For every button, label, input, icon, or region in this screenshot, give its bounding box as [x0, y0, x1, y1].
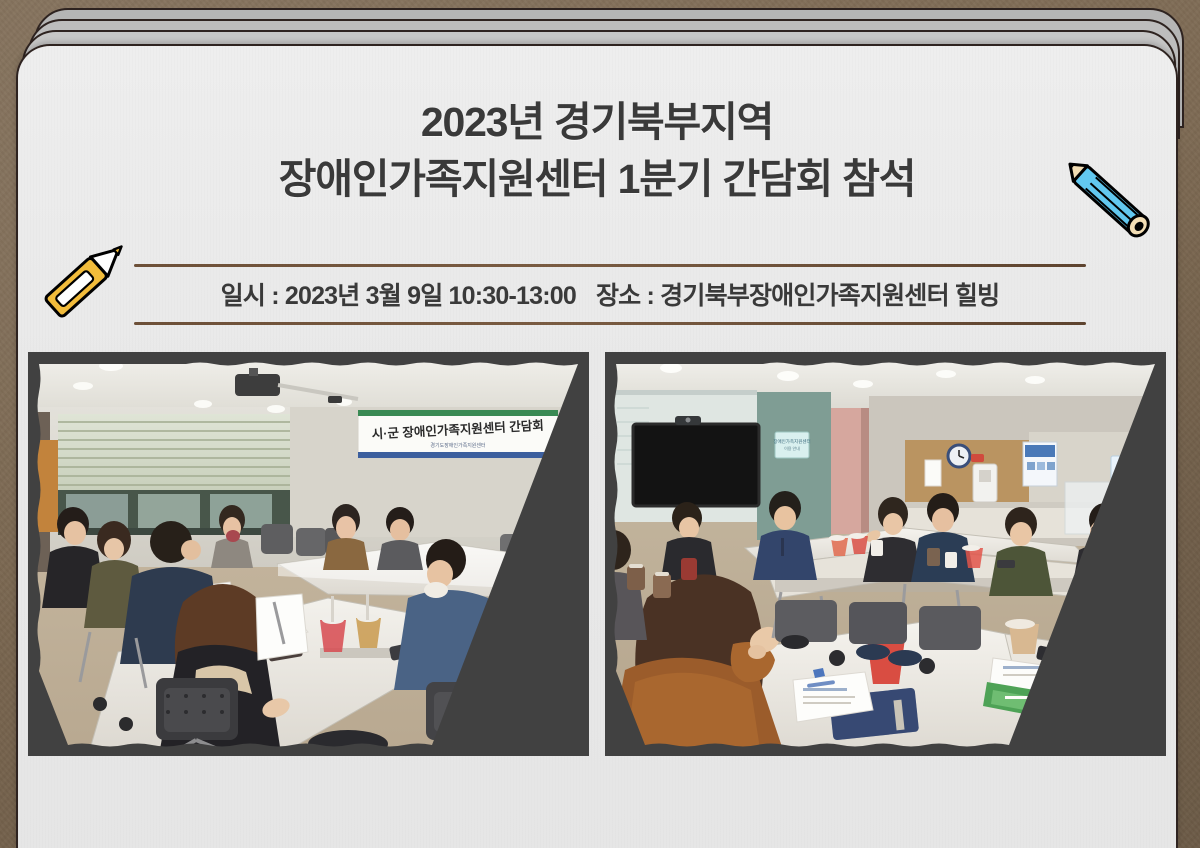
- photo-right[interactable]: 장애인가족지원센터 이용 안내: [605, 352, 1166, 756]
- page-header: 2023년 경기북부지역 장애인가족지원센터 1분기 간담회 참석: [18, 94, 1176, 207]
- svg-text:이용 안내: 이용 안내: [784, 445, 800, 451]
- photo-right-image: 장애인가족지원센터 이용 안내: [605, 352, 1166, 756]
- photo-left[interactable]: 시·군 장애인가족지원센터 간담회 경기도장애인가족지원센터: [28, 352, 589, 756]
- subtitle-place: 장소 : 경기북부장애인가족지원센터 힐빙: [596, 282, 999, 310]
- page-title-line-2: 장애인가족지원센터 1분기 간담회 참석: [18, 151, 1176, 208]
- rule-bottom: [134, 322, 1086, 325]
- blue-pencil-icon: [1054, 150, 1164, 250]
- photo-left-image: 시·군 장애인가족지원센터 간담회 경기도장애인가족지원센터: [28, 352, 589, 756]
- subtitle-block: 일시 : 2023년 3월 9일 10:30-13:00장소 : 경기북부장애인…: [134, 264, 1086, 325]
- subtitle-text: 일시 : 2023년 3월 9일 10:30-13:00장소 : 경기북부장애인…: [134, 267, 1086, 322]
- svg-text:장애인가족지원센터: 장애인가족지원센터: [773, 438, 810, 445]
- svg-text:경기도장애인가족지원센터: 경기도장애인가족지원센터: [430, 442, 485, 449]
- photo-gallery: 시·군 장애인가족지원센터 간담회 경기도장애인가족지원센터: [18, 352, 1176, 756]
- page-title-line-1: 2023년 경기북부지역: [18, 94, 1176, 151]
- yellow-crayon-icon: [38, 232, 138, 324]
- subtitle-date: 일시 : 2023년 3월 9일 10:30-13:00: [221, 282, 576, 310]
- content-card: 2023년 경기북부지역 장애인가족지원센터 1분기 간담회 참석 일시 : 2…: [16, 44, 1178, 848]
